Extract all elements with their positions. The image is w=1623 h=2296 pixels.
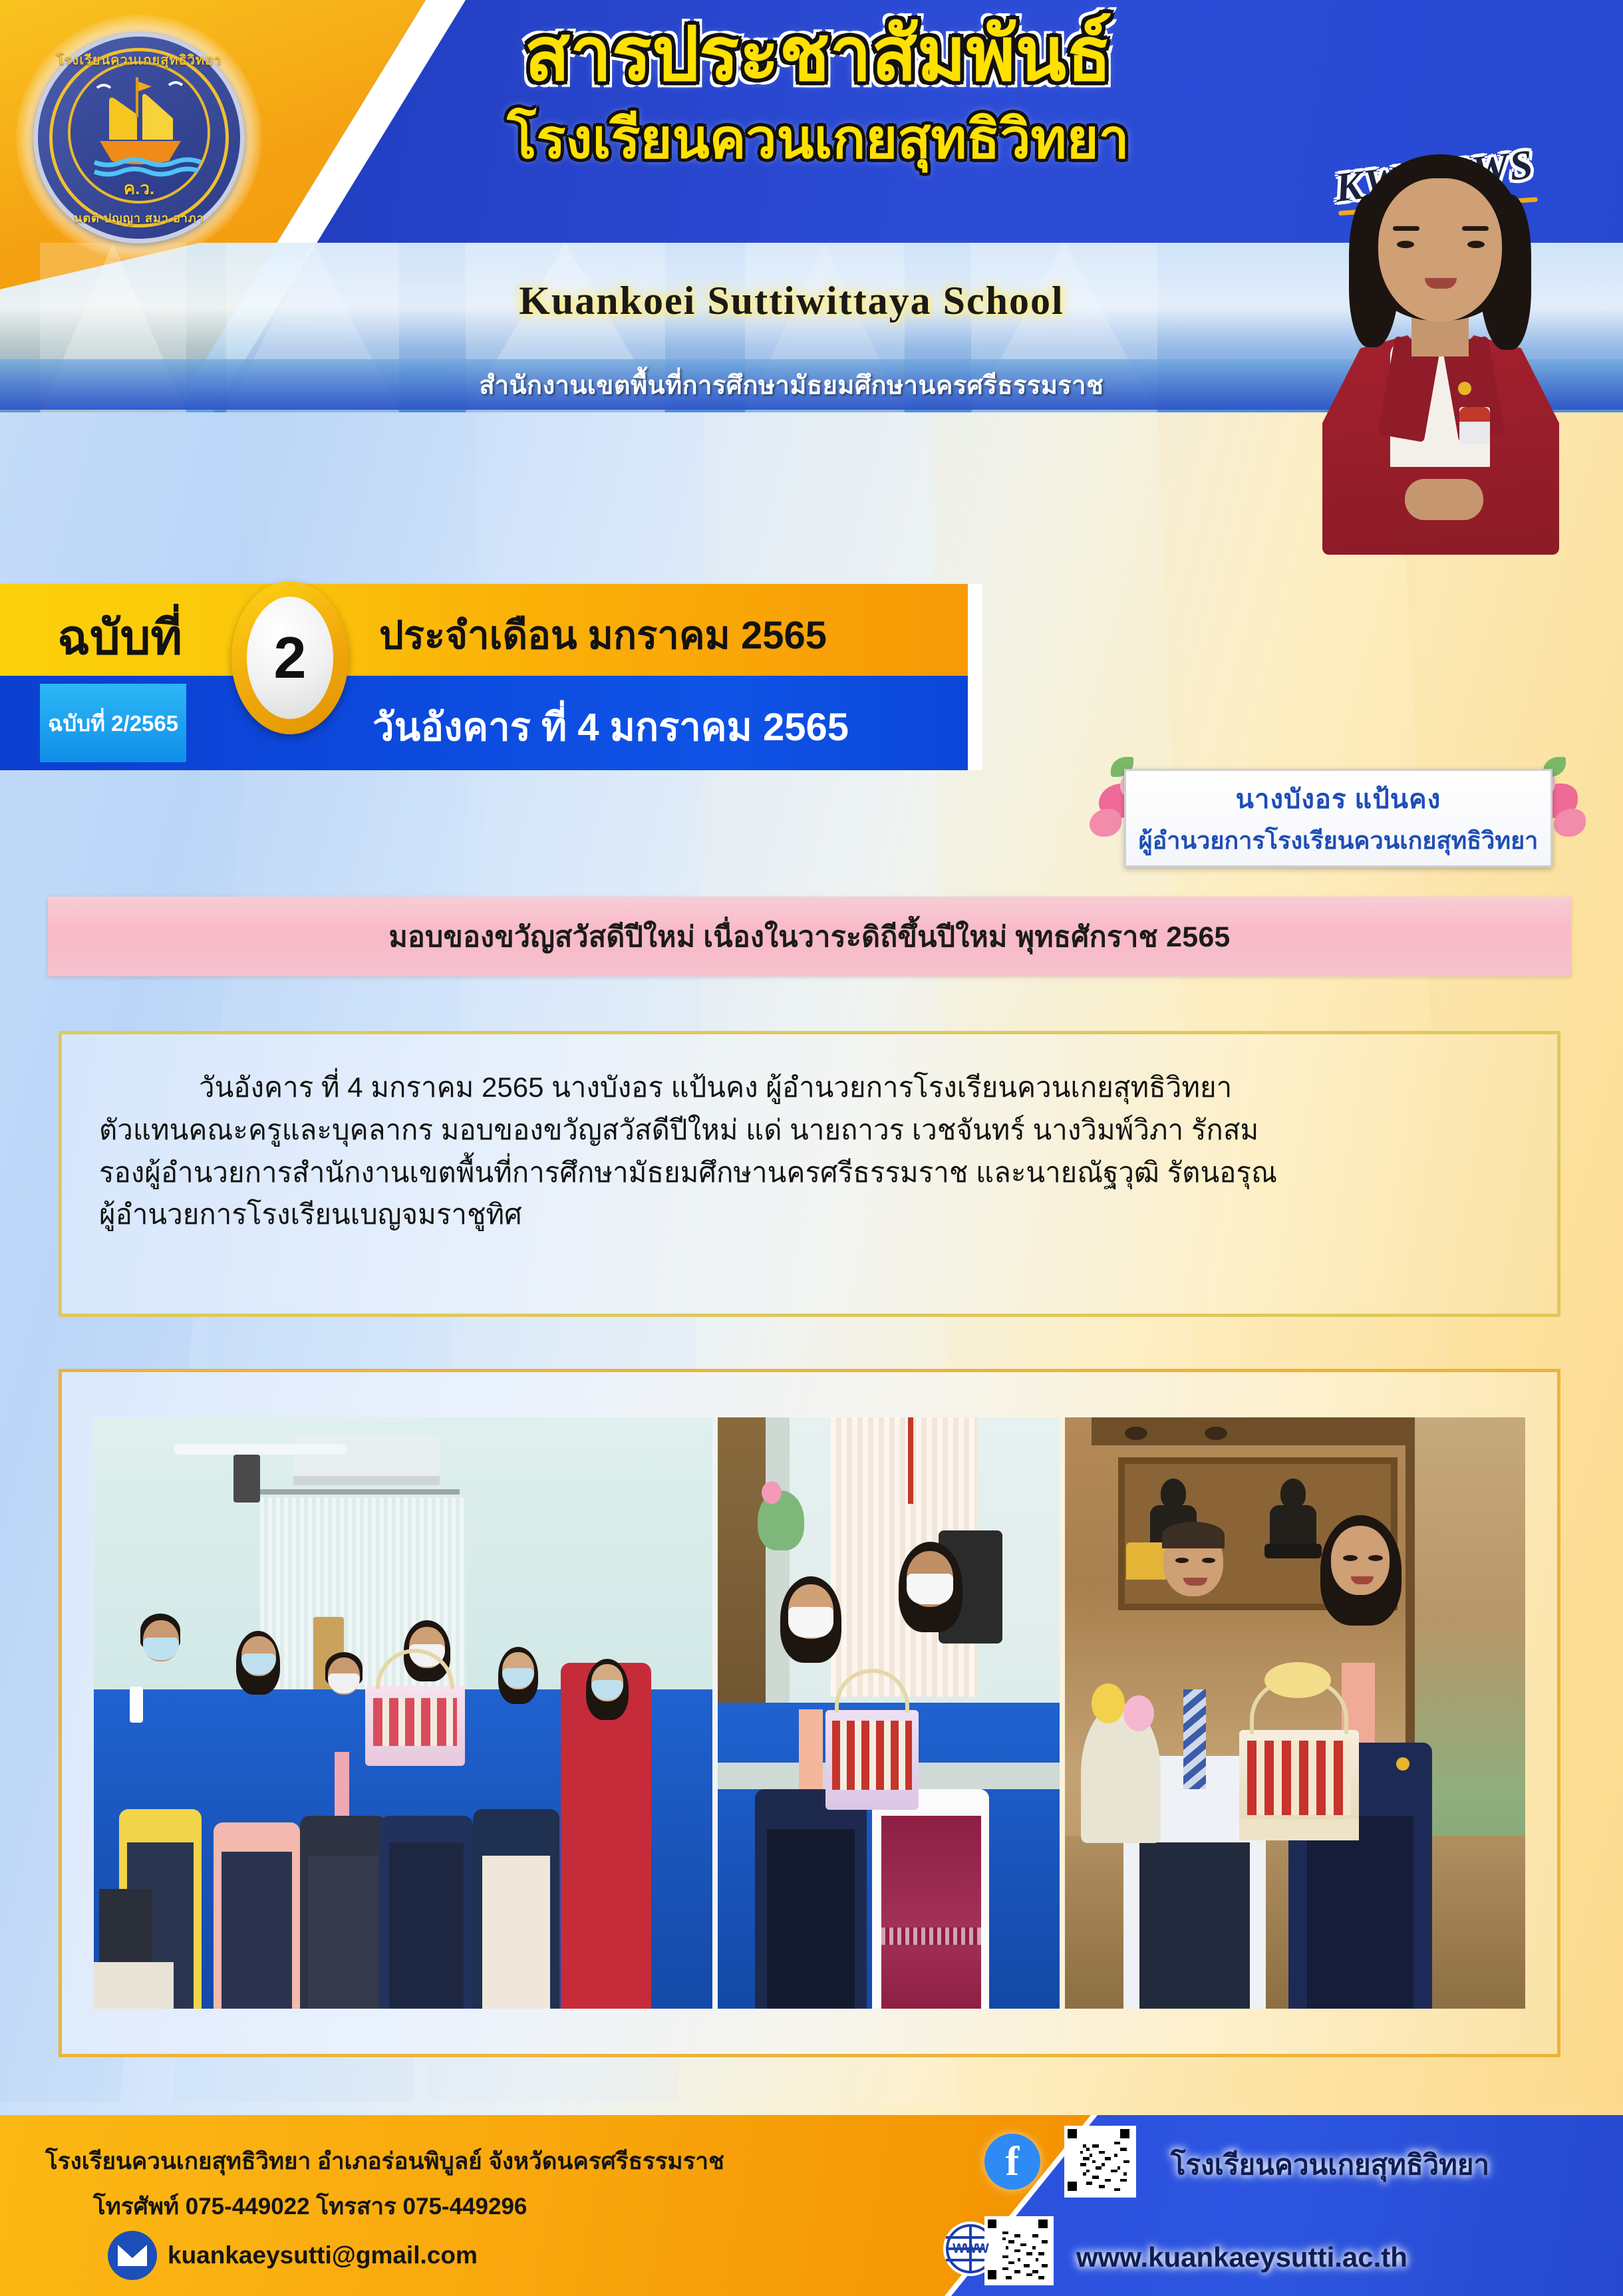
director-face: [1378, 178, 1502, 322]
photo-group-classroom: [94, 1417, 712, 2009]
director-name-badge: [1459, 407, 1490, 444]
education-office-name: สำนักงานเขตพื้นที่การศึกษามัธยมศึกษานครศ…: [319, 364, 1264, 405]
photo3-downlight-1: [1125, 1427, 1147, 1440]
issue-sub-badge: ฉบับที่ 2/2565: [40, 684, 186, 762]
school-name-thai: โรงเรียนควนเกยสุทธิวิทยา: [372, 110, 1264, 170]
photo1-mat: [94, 1962, 174, 2009]
photo3-downlight-2: [1205, 1427, 1227, 1440]
photo1-person-2: [207, 1570, 307, 2009]
facebook-icon[interactable]: f: [984, 2134, 1040, 2190]
email-icon: [108, 2231, 157, 2280]
photo1-aircon: [293, 1435, 440, 1476]
photo3-flower-pink: [1123, 1695, 1154, 1731]
issue-number: 2: [274, 629, 307, 687]
logo-arc-bottom-text: นตติ ปญญา สมา อาภา: [16, 208, 262, 227]
director-hands: [1405, 479, 1483, 520]
footer-phone: โทรศัพท์ 075-449022 โทรสาร 075-449296: [93, 2188, 527, 2225]
photo1-person-5: [466, 1583, 566, 2009]
photo2-cord: [908, 1417, 913, 1504]
footer-facebook-name[interactable]: โรงเรียนควนเกยสุทธิวิทยา: [1171, 2143, 1489, 2187]
photo-gallery: [59, 1369, 1560, 2057]
photo1-speaker: [233, 1455, 260, 1503]
article-headline: มอบของขวัญสวัสดีปีใหม่ เนื่องในวาระดิถีข…: [388, 914, 1230, 959]
issue-banner: ฉบับที่ ฉบับที่ 2/2565 2 ประจำเดือน มกรา…: [0, 584, 981, 770]
photo-man-woman-office: [1065, 1417, 1525, 2009]
photo3-flower-yellow: [1092, 1683, 1125, 1723]
article-headline-bar: มอบของขวัญสวัสดีปีใหม่ เนื่องในวาระดิถีข…: [48, 897, 1571, 976]
director-lapel-pin: [1458, 382, 1471, 395]
issue-date: วันอังคาร ที่ 4 มกราคม 2565: [372, 696, 849, 758]
photo3-gift-bow: [1264, 1662, 1331, 1698]
article-body-line-3: รองผู้อำนวยการสำนักงานเขตพื้นที่การศึกษา…: [99, 1151, 1520, 1194]
body-line-1-text: วันอังคาร ที่ 4 มกราคม 2565 นางบังอร แป้…: [199, 1072, 1232, 1103]
globe-www-label: WWW: [953, 2241, 988, 2257]
logo-abbreviation: ค.ว.: [16, 175, 262, 202]
director-eye-left: [1397, 241, 1414, 248]
photo3-gift-basket: [1239, 1730, 1359, 1840]
page-title: สารประชาสัมพันธ์: [372, 15, 1264, 95]
director-role: ผู้อำนวยการโรงเรียนควนเกยสุทธิวิทยา: [1139, 821, 1539, 859]
footer-school-address: โรงเรียนควนเกยสุทธิวิทยา อำเภอร่อนพิบูลย…: [45, 2143, 724, 2180]
photo1-aircon-vent: [293, 1476, 440, 1485]
photo2-flower: [762, 1481, 782, 1504]
issue-number-coin: 2: [231, 581, 349, 734]
school-logo: โรงเรียนควนเกยสุทธิวิทยา ค.ว. นตติ ปญญา …: [16, 15, 262, 261]
director-eye-right: [1467, 241, 1485, 248]
issue-month: ประจำเดือน มกราคม 2565: [379, 604, 827, 666]
director-brow-right: [1462, 226, 1489, 231]
photo1-gift-basket: [365, 1686, 465, 1766]
photo1-rail: [260, 1489, 460, 1495]
article-body-box: วันอังคาร ที่ 4 มกราคม 2565 นางบังอร แป้…: [59, 1031, 1560, 1317]
photo-two-women-office: [718, 1417, 1060, 2009]
issue-white-edge: [968, 584, 982, 770]
logo-arc-top-text: โรงเรียนควนเกยสุทธิวิทยา: [16, 49, 262, 71]
article-body-line-1: วันอังคาร ที่ 4 มกราคม 2565 นางบังอร แป้…: [99, 1066, 1520, 1109]
director-name: นางบังอร แป้นคง: [1236, 778, 1441, 820]
footer-email[interactable]: kuankaeysutti@gmail.com: [168, 2241, 478, 2269]
footer: โรงเรียนควนเกยสุทธิวิทยา อำเภอร่อนพิบูลย…: [0, 2115, 1623, 2296]
website-qr-code: [984, 2216, 1054, 2285]
director-portrait: [1293, 148, 1586, 547]
facebook-qr-code: [1064, 2126, 1136, 2198]
director-nameplate: นางบังอร แป้นคง ผู้อำนวยการโรงเรียนควนเก…: [1084, 750, 1596, 883]
issue-label: ฉบับที่: [57, 599, 182, 675]
nameplate-box: นางบังอร แป้นคง ผู้อำนวยการโรงเรียนควนเก…: [1124, 769, 1552, 867]
issue-sub-badge-text: ฉบับที่ 2/2565: [48, 706, 178, 741]
school-name-english: Kuankoei Suttiwittaya School: [319, 278, 1264, 324]
photo1-light: [174, 1444, 347, 1455]
issue-coin-inner: 2: [247, 597, 333, 719]
photo2-gift-basket: [825, 1710, 919, 1810]
director-brow-left: [1393, 226, 1419, 231]
article-body-line-4: ผู้อำนวยการโรงเรียนเบญจมราชูทิศ: [99, 1193, 1520, 1236]
facebook-glyph: f: [1006, 2141, 1020, 2182]
photo1-box-left: [99, 1889, 152, 1969]
footer-website[interactable]: www.kuankaeysutti.ac.th: [1076, 2241, 1407, 2273]
article-body-line-2: ตัวแทนคณะครูและบุคลากร มอบของขวัญสวัสดีป…: [99, 1109, 1520, 1151]
photo1-person-6: [553, 1590, 659, 2009]
photo1-person-4-director: [373, 1570, 480, 2009]
